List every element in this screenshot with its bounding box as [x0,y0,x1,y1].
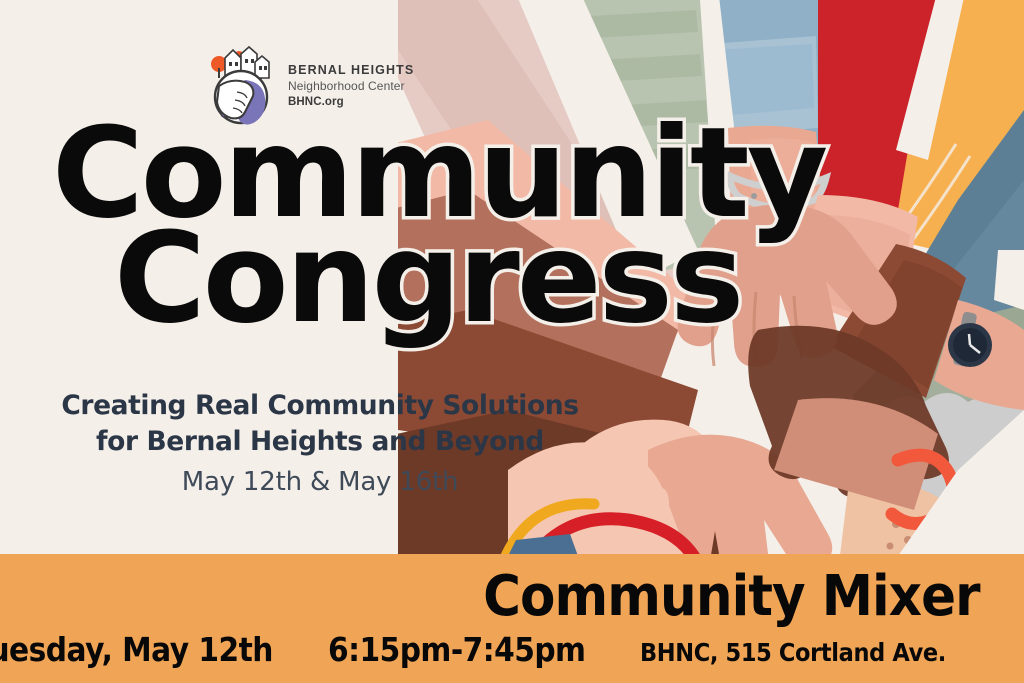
subtitle-line-2: for Bernal Heights and Beyond [0,424,640,460]
logo-text-block: BERNAL HEIGHTS Neighborhood Center BHNC.… [288,57,414,111]
event-banner: Community Mixer Tuesday, May 12th 6:15pm… [0,554,1024,683]
subtitle-line-1: Creating Real Community Solutions [0,388,640,424]
logo-website: BHNC.org [288,94,414,111]
banner-time: 6:15pm-7:45pm [328,630,585,669]
handshake-houses-icon [205,42,277,126]
page-title: Community Congress [52,116,825,336]
banner-location: BHNC, 515 Cortland Ave. [640,638,946,667]
banner-details-row: Tuesday, May 12th 6:15pm-7:45pm BHNC, 51… [0,630,1024,669]
poster-canvas: BERNAL HEIGHTS Neighborhood Center BHNC.… [0,0,1024,683]
banner-title: Community Mixer [484,564,980,629]
subtitle-dates: May 12th & May 16th [0,463,640,502]
title-line-2: Congress [114,221,825,336]
logo-org-subtitle: Neighborhood Center [288,79,414,95]
subtitle-block: Creating Real Community Solutions for Be… [0,388,640,502]
bhnc-logo: BERNAL HEIGHTS Neighborhood Center BHNC.… [205,42,414,126]
logo-org-name: BERNAL HEIGHTS [288,63,414,79]
banner-day: Tuesday, May 12th [0,630,273,669]
